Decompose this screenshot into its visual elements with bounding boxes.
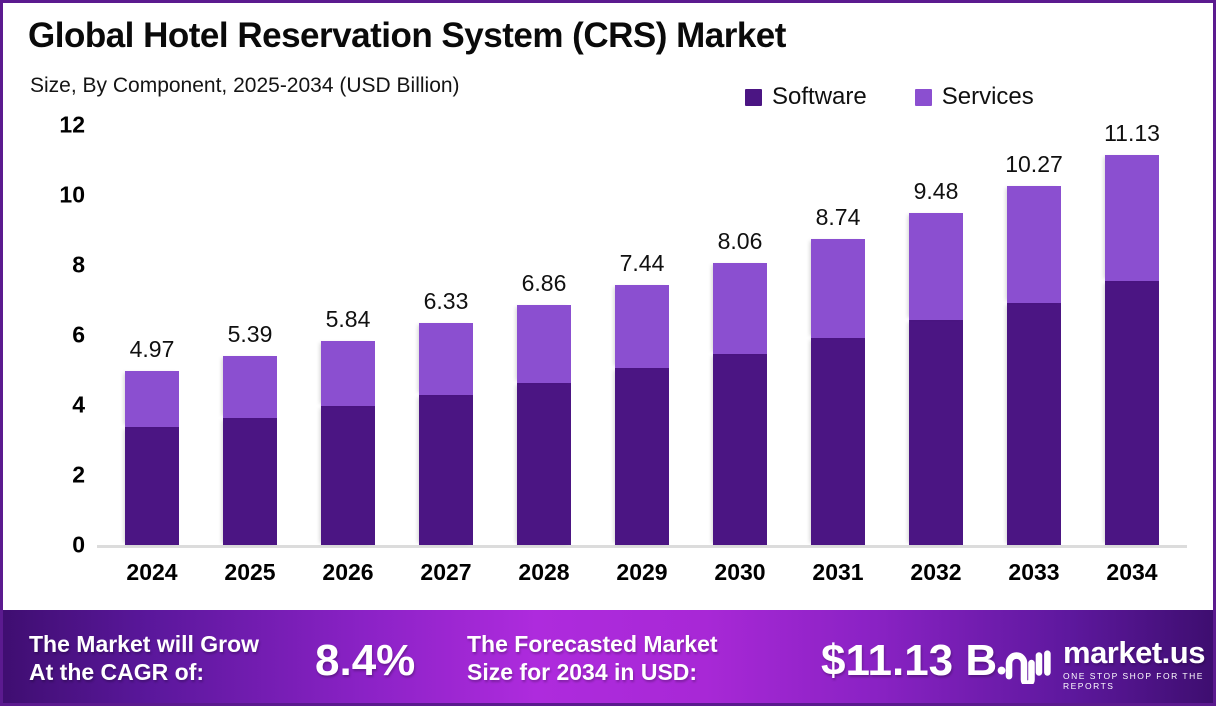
bar-segment-software[interactable] [321, 406, 375, 545]
bar-segment-services[interactable] [321, 341, 375, 407]
forecast-size-value: $11.13 B [821, 634, 997, 688]
bar-group[interactable]: 8.06 [713, 125, 767, 545]
bar-segment-software[interactable] [223, 418, 277, 545]
x-axis-tick-label: 2024 [126, 559, 177, 586]
page-title: Global Hotel Reservation System (CRS) Ma… [28, 16, 786, 56]
forecast-size-label-line2: Size for 2034 in USD: [467, 658, 718, 686]
x-axis-tick-label: 2030 [714, 559, 765, 586]
bar-value-label: 10.27 [1005, 151, 1063, 178]
bar-value-label: 6.86 [522, 270, 567, 297]
cagr-label-line1: The Market will Grow [29, 630, 259, 658]
legend-label: Software [772, 83, 867, 111]
footer-banner: The Market will Grow At the CAGR of: 8.4… [3, 610, 1213, 703]
bar-value-label: 5.84 [326, 306, 371, 333]
legend-label: Services [942, 83, 1034, 111]
legend-swatch-icon [915, 89, 932, 106]
y-axis-tick-label: 0 [25, 532, 85, 559]
bar-segment-software[interactable] [1007, 303, 1061, 545]
bar-segment-software[interactable] [909, 320, 963, 545]
cagr-value: 8.4% [315, 634, 415, 688]
bar-segment-services[interactable] [223, 356, 277, 418]
bar-group[interactable]: 5.39 [223, 125, 277, 545]
bar-segment-software[interactable] [615, 368, 669, 545]
bar-value-label: 7.44 [620, 250, 665, 277]
y-axis-tick-label: 8 [25, 252, 85, 279]
bar-segment-software[interactable] [1105, 281, 1159, 545]
bar-group[interactable]: 6.33 [419, 125, 473, 545]
x-axis-tick-label: 2031 [812, 559, 863, 586]
bar-segment-software[interactable] [125, 427, 179, 545]
bar-group[interactable]: 7.44 [615, 125, 669, 545]
bar-group[interactable]: 5.84 [321, 125, 375, 545]
bar-value-label: 4.97 [130, 336, 175, 363]
legend-swatch-icon [745, 89, 762, 106]
x-axis-tick-label: 2025 [224, 559, 275, 586]
y-axis-tick-label: 4 [25, 392, 85, 419]
bar-group[interactable]: 9.48 [909, 125, 963, 545]
chart-infographic: Global Hotel Reservation System (CRS) Ma… [0, 0, 1216, 706]
bar-segment-services[interactable] [125, 371, 179, 427]
bar-value-label: 9.48 [914, 178, 959, 205]
bar-segment-services[interactable] [1007, 186, 1061, 303]
chart-legend: Software Services [745, 83, 1034, 111]
x-axis-tick-label: 2026 [322, 559, 373, 586]
bar-value-label: 6.33 [424, 288, 469, 315]
bar-value-label: 8.74 [816, 204, 861, 231]
x-axis-tick-label: 2033 [1008, 559, 1059, 586]
bar-segment-software[interactable] [713, 354, 767, 545]
bar-group[interactable]: 8.74 [811, 125, 865, 545]
y-axis-tick-label: 10 [25, 182, 85, 209]
logo-wordmark: market.us [1063, 637, 1205, 668]
y-axis-tick-label: 2 [25, 462, 85, 489]
x-axis-tick-label: 2028 [518, 559, 569, 586]
x-axis-tick-label: 2032 [910, 559, 961, 586]
bar-group[interactable]: 6.86 [517, 125, 571, 545]
bar-value-label: 11.13 [1104, 120, 1160, 147]
bar-segment-software[interactable] [517, 383, 571, 545]
bar-segment-services[interactable] [517, 305, 571, 383]
bar-value-label: 8.06 [718, 228, 763, 255]
y-axis-tick-label: 6 [25, 322, 85, 349]
bar-segment-services[interactable] [811, 239, 865, 338]
bar-segment-software[interactable] [811, 338, 865, 545]
bar-value-label: 5.39 [228, 321, 273, 348]
bar-segment-services[interactable] [713, 263, 767, 354]
bar-segment-software[interactable] [419, 395, 473, 546]
bar-segment-services[interactable] [909, 213, 963, 320]
forecast-size-label: The Forecasted Market Size for 2034 in U… [467, 630, 718, 686]
chart-subtitle: Size, By Component, 2025-2034 (USD Billi… [30, 74, 460, 98]
bar-group[interactable]: 4.97 [125, 125, 179, 545]
bar-segment-services[interactable] [419, 323, 473, 394]
bar-segment-services[interactable] [1105, 155, 1159, 281]
bar-group[interactable]: 11.13 [1105, 125, 1159, 545]
cagr-label-line2: At the CAGR of: [29, 658, 259, 686]
x-axis-tick-label: 2029 [616, 559, 667, 586]
market-us-logo-icon [995, 644, 1053, 684]
bar-group[interactable]: 10.27 [1007, 125, 1061, 545]
x-axis-tick-label: 2034 [1106, 559, 1157, 586]
logo-tagline: ONE STOP SHOP FOR THE REPORTS [1063, 671, 1213, 691]
legend-item-software[interactable]: Software [745, 83, 867, 111]
y-axis: 024681012 [25, 3, 85, 706]
bar-segment-services[interactable] [615, 285, 669, 368]
cagr-label: The Market will Grow At the CAGR of: [29, 630, 259, 686]
x-axis-tick-label: 2027 [420, 559, 471, 586]
legend-item-services[interactable]: Services [915, 83, 1034, 111]
y-axis-tick-label: 12 [25, 112, 85, 139]
forecast-size-label-line1: The Forecasted Market [467, 630, 718, 658]
market-us-logo[interactable]: market.us ONE STOP SHOP FOR THE REPORTS [995, 637, 1213, 691]
